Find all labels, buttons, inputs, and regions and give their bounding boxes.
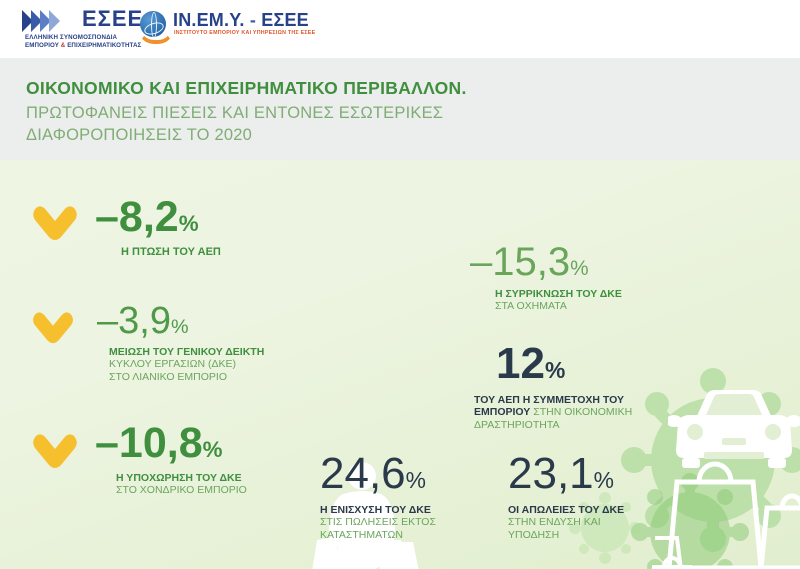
stat-label-bold2: ΕΜΠΟΡΙΟΥ: [474, 406, 530, 418]
stat-label-bold: Η ΥΠΟΧΩΡΗΣΗ ΤΟΥ ΔΚΕ: [116, 472, 247, 484]
stat-label-line3: ΣΤΟ ΛΙΑΝΙΚΟ ΕΜΠΟΡΙΟ: [109, 371, 264, 383]
stat-label-bold: ΟΙ ΑΠΩΛΕΙΕΣ ΤΟΥ ΔΚΕ: [508, 504, 624, 516]
percent-sign: %: [179, 211, 199, 236]
stat-value: –8,2%: [95, 196, 199, 239]
esee-subtitle-part-a: ΕΜΠΟΡΙΟΥ: [25, 42, 61, 49]
header-band: ΟΙΚΟΝΟΜΙΚΟ ΚΑΙ ΕΠΙΧΕΙΡΗΜΑΤΙΚΟ ΠΕΡΙΒΑΛΛΟΝ…: [0, 58, 800, 160]
stat-value: –15,3%: [470, 242, 589, 282]
stat-label: ΟΙ ΑΠΩΛΕΙΕΣ ΤΟΥ ΔΚΕ ΣΤΗΝ ΕΝΔΥΣΗ ΚΑΙ ΥΠΟΔ…: [508, 504, 624, 541]
stat-label: Η ΠΤΩΣΗ ΤΟΥ ΑΕΠ: [121, 246, 221, 259]
stat-label: Η ΣΥΡΡΙΚΝΩΣΗ ΤΟΥ ΔΚΕ ΣΤΑ ΟΧΗΜΑΤΑ: [495, 288, 622, 313]
stat-value: –10,8%: [95, 422, 223, 465]
stat-label-line2: ΣΤΑ ΟΧΗΜΑΤΑ: [495, 300, 622, 312]
esee-chevron-mark-icon: [22, 10, 76, 32]
percent-sign: %: [594, 467, 614, 493]
stat-number: 12: [496, 339, 545, 388]
page-subtitle: ΠΡΩΤΟΦΑΝΕΙΣ ΠΙΕΣΕΙΣ ΚΑΙ ΕΝΤΟΝΕΣ ΕΣΩΤΕΡΙΚ…: [26, 102, 443, 146]
percent-sign: %: [171, 316, 189, 338]
stat-number: –3,9: [97, 300, 171, 342]
stat-value: 23,1%: [508, 452, 614, 496]
percent-sign: %: [203, 437, 223, 462]
stat-value: –3,9%: [97, 302, 189, 340]
infographic-page: ΕΣΕΕ ΕΛΛΗΝΙΚΗ ΣΥΝΟΜΟΣΠΟΝΔΙΑ ΕΜΠΟΡΙΟΥ & Ε…: [0, 0, 800, 569]
inemy-word-part2: ΕΣΕΕ: [261, 10, 309, 30]
esee-wordmark: ΕΣΕΕ: [82, 6, 143, 32]
stat-label-line2: ΚΥΚΛΟΥ ΕΡΓΑΣΙΩΝ (ΔΚΕ): [109, 358, 264, 370]
stat-number: 24,6: [320, 449, 406, 498]
esee-logo: ΕΣΕΕ ΕΛΛΗΝΙΚΗ ΣΥΝΟΜΟΣΠΟΝΔΙΑ ΕΜΠΟΡΙΟΥ & Ε…: [22, 6, 132, 52]
stat-label: ΜΕΙΩΣΗ ΤΟΥ ΓΕΝΙΚΟΥ ΔΕΙΚΤΗ ΚΥΚΛΟΥ ΕΡΓΑΣΙΩ…: [109, 346, 264, 383]
inemy-word-part1: IN.EM.Y.: [173, 10, 245, 30]
stat-label-line2: ΕΜΠΟΡΙΟΥ ΣΤΗΝ ΟΙΚΟΝΟΜΙΚΗ: [474, 406, 632, 418]
page-subtitle-line1: ΠΡΩΤΟΦΑΝΕΙΣ ΠΙΕΣΕΙΣ ΚΑΙ ΕΝΤΟΝΕΣ ΕΣΩΤΕΡΙΚ…: [26, 102, 443, 124]
stat-label-bold: Η ΠΤΩΣΗ ΤΟΥ ΑΕΠ: [121, 246, 221, 259]
stat-label-rest: ΣΤΗΝ ΟΙΚΟΝΟΜΙΚΗ: [530, 406, 632, 418]
stat-number: –10,8: [95, 419, 203, 467]
esee-subtitle-line1: ΕΛΛΗΝΙΚΗ ΣΥΝΟΜΟΣΠΟΝΔΙΑ: [25, 34, 117, 41]
page-title: ΟΙΚΟΝΟΜΙΚΟ ΚΑΙ ΕΠΙΧΕΙΡΗΜΑΤΙΚΟ ΠΕΡΙΒΑΛΛΟΝ…: [26, 78, 467, 99]
chevron-down-icon: [31, 312, 75, 345]
chevron-down-icon: [31, 434, 79, 470]
stat-label-line2: ΣΤΙΣ ΠΩΛΗΣΕΙΣ ΕΚΤΟΣ: [320, 516, 436, 528]
stat-label-bold: Η ΣΥΡΡΙΚΝΩΣΗ ΤΟΥ ΔΚΕ: [495, 288, 622, 300]
stat-label: Η ΥΠΟΧΩΡΗΣΗ ΤΟΥ ΔΚΕ ΣΤΟ ΧΟΝΔΡΙΚΟ ΕΜΠΟΡΙΟ: [116, 472, 247, 497]
stat-number: –8,2: [95, 193, 179, 241]
stat-value: 12%: [496, 342, 565, 386]
percent-sign: %: [545, 357, 565, 383]
chevron-down-icon: [31, 206, 79, 242]
logo-bar: ΕΣΕΕ ΕΛΛΗΝΙΚΗ ΣΥΝΟΜΟΣΠΟΝΔΙΑ ΕΜΠΟΡΙΟΥ & Ε…: [0, 0, 800, 58]
esee-subtitle-line2: ΕΜΠΟΡΙΟΥ & ΕΠΙΧΕΙΡΗΜΑΤΙΚΟΤΗΤΑΣ: [25, 42, 141, 49]
page-subtitle-line2: ΔΙΑΦΟΡΟΠΟΙΗΣΕΙΣ ΤΟ 2020: [26, 124, 443, 146]
percent-sign: %: [570, 257, 589, 280]
stat-label-line2: ΣΤΗΝ ΕΝΔΥΣΗ ΚΑΙ: [508, 516, 624, 528]
stat-label-line3: ΥΠΟΔΗΣΗ: [508, 529, 624, 541]
inemy-word-dash: -: [245, 10, 262, 30]
stat-label-bold: Η ΕΝΙΣΧΥΣΗ ΤΟΥ ΔΚΕ: [320, 504, 436, 516]
percent-sign: %: [406, 467, 426, 493]
stat-label-bold: ΜΕΙΩΣΗ ΤΟΥ ΓΕΝΙΚΟΥ ΔΕΙΚΤΗ: [109, 346, 264, 358]
stat-label-line3: ΔΡΑΣΤΗΡΙΟΤΗΤΑ: [474, 419, 632, 431]
globe-icon: [140, 11, 166, 37]
inemy-subtitle: ΙΝΣΤΙΤΟΥΤΟ ΕΜΠΟΡΙΟΥ ΚΑΙ ΥΠΗΡΕΣΙΩΝ ΤΗΣ ΕΣ…: [174, 30, 315, 36]
stat-number: 23,1: [508, 449, 594, 498]
stat-label-bold: ΤΟΥ ΑΕΠ Η ΣΥΜΜΕΤΟΧΗ ΤΟΥ: [474, 394, 632, 406]
stat-label: Η ΕΝΙΣΧΥΣΗ ΤΟΥ ΔΚΕ ΣΤΙΣ ΠΩΛΗΣΕΙΣ ΕΚΤΟΣ Κ…: [320, 504, 436, 541]
esee-subtitle-part-b: ΕΠΙΧΕΙΡΗΜΑΤΙΚΟΤΗΤΑΣ: [65, 42, 141, 49]
car-front-icon: [668, 388, 800, 470]
inemy-logo: IN.EM.Y. - ΕΣΕΕ ΙΝΣΤΙΤΟΥΤΟ ΕΜΠΟΡΙΟΥ ΚΑΙ …: [140, 8, 290, 48]
stat-label-line3: ΚΑΤΑΣΤΗΜΑΤΩΝ: [320, 529, 436, 541]
stat-value: 24,6%: [320, 452, 426, 496]
stat-label: ΤΟΥ ΑΕΠ Η ΣΥΜΜΕΤΟΧΗ ΤΟΥ ΕΜΠΟΡΙΟΥ ΣΤΗΝ ΟΙ…: [474, 394, 632, 431]
shopping-bags-icon: [638, 535, 718, 569]
infographic-body: –8,2% Η ΠΤΩΣΗ ΤΟΥ ΑΕΠ –3,9% ΜΕΙΩΣΗ ΤΟΥ Γ…: [0, 160, 800, 569]
stat-label-line2: ΣΤΟ ΧΟΝΔΡΙΚΟ ΕΜΠΟΡΙΟ: [116, 484, 247, 496]
stat-number: –15,3: [470, 240, 570, 284]
inemy-wordmark: IN.EM.Y. - ΕΣΕΕ: [173, 10, 309, 31]
